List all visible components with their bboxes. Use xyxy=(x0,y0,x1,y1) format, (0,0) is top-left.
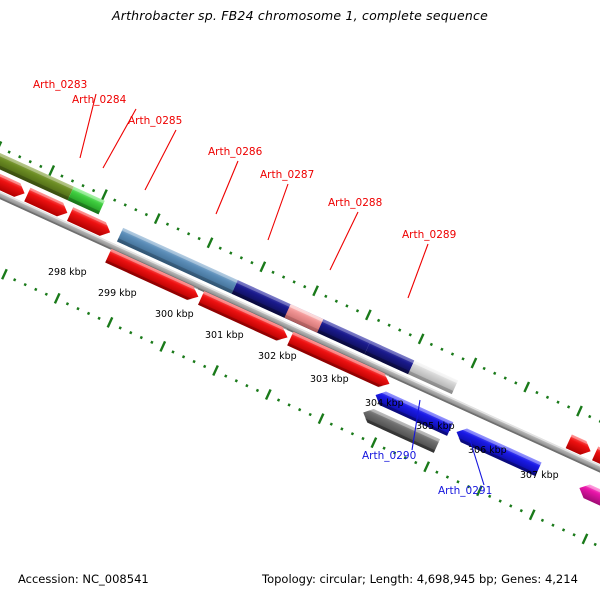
ruler-minor-tick xyxy=(361,437,364,440)
ruler-minor-tick xyxy=(18,155,21,158)
ruler-minor-tick xyxy=(535,391,538,394)
ruler-minor-tick xyxy=(45,293,48,296)
ruler-minor-tick xyxy=(24,283,27,286)
ruler-minor-tick xyxy=(8,150,11,153)
ruler-minor-tick xyxy=(13,278,16,281)
ruler-major-tick xyxy=(423,461,430,472)
ruler-major-tick xyxy=(265,389,272,400)
ruler-major-tick xyxy=(318,413,325,424)
ruler-major-tick xyxy=(576,406,583,417)
ruler-minor-tick xyxy=(219,247,222,250)
ruler-minor-tick xyxy=(409,333,412,336)
ruler-minor-tick xyxy=(456,480,459,483)
ruler-minor-tick xyxy=(271,271,274,274)
ruler-minor-tick xyxy=(377,319,380,322)
ruler-tick-label: 299 kbp xyxy=(98,288,137,299)
ruler-minor-tick xyxy=(551,523,554,526)
ruler-minor-tick xyxy=(60,174,63,177)
ruler-minor-tick xyxy=(198,237,201,240)
ruler-major-tick xyxy=(54,293,61,304)
ruler-minor-tick xyxy=(514,381,517,384)
ruler-minor-tick xyxy=(430,343,433,346)
ruler-minor-tick xyxy=(182,355,185,358)
ruler-ticks-upper xyxy=(0,141,600,445)
ruler-minor-tick xyxy=(345,304,348,307)
gene-label-arth_0284[interactable]: Arth_0284 xyxy=(72,94,136,168)
ruler-major-tick xyxy=(207,237,214,248)
gene-label-text[interactable]: Arth_0286 xyxy=(208,146,263,158)
ruler-minor-tick xyxy=(388,324,391,327)
ruler-minor-tick xyxy=(39,165,42,168)
gene-label-text[interactable]: Arth_0290 xyxy=(362,450,416,462)
gene-label-text[interactable]: Arth_0285 xyxy=(128,115,182,127)
ruler-minor-tick xyxy=(446,475,449,478)
ruler-minor-tick xyxy=(520,509,523,512)
ruler-major-tick xyxy=(523,382,530,393)
ruler-major-tick xyxy=(418,333,425,344)
ruler-minor-tick xyxy=(335,299,338,302)
ruler-minor-tick xyxy=(351,432,354,435)
sequence-stats-text: Topology: circular; Length: 4,698,945 bp… xyxy=(262,572,578,586)
ruler-minor-tick xyxy=(119,326,122,329)
ruler-minor-tick xyxy=(71,179,74,182)
ruler-minor-tick xyxy=(224,374,227,377)
gene-label-text[interactable]: Arth_0289 xyxy=(402,229,456,241)
ruler-minor-tick xyxy=(113,198,116,201)
ruler-tick-label: 305 kbp xyxy=(416,421,455,432)
ruler-minor-tick xyxy=(330,422,333,425)
ruler-minor-tick xyxy=(277,398,280,401)
gene-label-arth_0283[interactable]: Arth_0283 xyxy=(33,79,96,158)
ruler-minor-tick xyxy=(440,348,443,351)
ruler-minor-tick xyxy=(504,376,507,379)
ruler-major-tick xyxy=(371,437,378,448)
ruler-minor-tick xyxy=(556,400,559,403)
ruler-major-tick xyxy=(365,309,372,320)
ruler-major-tick xyxy=(212,365,219,376)
ruler-minor-tick xyxy=(81,184,84,187)
ruler-minor-tick xyxy=(499,499,502,502)
ruler-minor-tick xyxy=(92,189,95,192)
accession-text: Accession: NC_008541 xyxy=(18,572,149,586)
gene-label-text[interactable]: Arth_0283 xyxy=(33,79,87,91)
gene-label-arth_0285[interactable]: Arth_0285 xyxy=(128,115,182,190)
ruler-minor-tick xyxy=(29,160,32,163)
ruler-major-tick xyxy=(471,357,478,368)
ruler-tick-label: 304 kbp xyxy=(365,398,404,409)
gene-label-arth_0289[interactable]: Arth_0289 xyxy=(402,229,456,298)
ruler-minor-tick xyxy=(150,341,153,344)
genome-sequence-viewer: Arthrobacter sp. FB24 chromosome 1, comp… xyxy=(0,0,600,600)
ruler-major-tick xyxy=(0,141,2,152)
ruler-minor-tick xyxy=(588,415,591,418)
ruler-labels: 298 kbp299 kbp300 kbp301 kbp302 kbp303 k… xyxy=(48,267,559,481)
genome-map-canvas[interactable]: 298 kbp299 kbp300 kbp301 kbp302 kbp303 k… xyxy=(0,0,600,600)
ruler-minor-tick xyxy=(245,384,248,387)
ruler-minor-tick xyxy=(309,413,312,416)
ruler-major-tick xyxy=(101,189,108,200)
gene-label-text[interactable]: Arth_0291 xyxy=(438,485,492,497)
ruler-major-tick xyxy=(259,261,266,272)
gene-magenta-edge[interactable] xyxy=(576,481,600,506)
ruler-minor-tick xyxy=(562,528,565,531)
gene-label-text[interactable]: Arth_0288 xyxy=(328,197,382,209)
ruler-minor-tick xyxy=(594,543,597,546)
ruler-minor-tick xyxy=(235,379,238,382)
ruler-minor-tick xyxy=(509,504,512,507)
ruler-major-tick xyxy=(529,509,536,520)
ruler-minor-tick xyxy=(340,427,343,430)
gene-label-arth_0286[interactable]: Arth_0286 xyxy=(208,146,263,214)
ruler-minor-tick xyxy=(567,405,570,408)
ruler-minor-tick xyxy=(129,331,132,334)
gene-label-text[interactable]: Arth_0287 xyxy=(260,169,314,181)
gene-label-leader-line xyxy=(408,244,428,298)
ruler-minor-tick xyxy=(303,285,306,288)
ruler-minor-tick xyxy=(398,328,401,331)
gene-label-leader-line xyxy=(330,212,358,270)
ruler-minor-tick xyxy=(97,317,100,320)
ruler-minor-tick xyxy=(572,533,575,536)
ruler-minor-tick xyxy=(483,367,486,370)
ruler-minor-tick xyxy=(256,389,259,392)
ruler-minor-tick xyxy=(203,365,206,368)
ruler-major-tick xyxy=(582,533,589,544)
ruler-ticks-lower xyxy=(0,245,599,549)
ruler-minor-tick xyxy=(166,223,169,226)
gene-label-leader-line xyxy=(216,161,238,214)
ruler-major-tick xyxy=(154,213,161,224)
ruler-major-tick xyxy=(107,317,114,328)
ruler-tick-label: 302 kbp xyxy=(258,351,297,362)
ruler-minor-tick xyxy=(87,312,90,315)
ruler-tick-label: 298 kbp xyxy=(48,267,87,278)
ruler-minor-tick xyxy=(66,302,69,305)
ruler-minor-tick xyxy=(435,471,438,474)
ruler-major-tick xyxy=(159,341,166,352)
ruler-minor-tick xyxy=(451,352,454,355)
ruler-minor-tick xyxy=(229,251,232,254)
ruler-minor-tick xyxy=(293,280,296,283)
ruler-minor-tick xyxy=(187,232,190,235)
ruler-minor-tick xyxy=(76,307,79,310)
ruler-minor-tick xyxy=(240,256,243,259)
gene-label-leader-line xyxy=(268,184,288,240)
ruler-minor-tick xyxy=(298,408,301,411)
gene-label-leader-line xyxy=(145,130,176,190)
ruler-minor-tick xyxy=(461,357,464,360)
gene-label-text[interactable]: Arth_0284 xyxy=(72,94,127,106)
ruler-minor-tick xyxy=(140,336,143,339)
ruler-major-tick xyxy=(48,165,55,176)
ruler-minor-tick xyxy=(124,203,127,206)
ruler-minor-tick xyxy=(324,295,327,298)
ruler-tick-label: 307 kbp xyxy=(520,470,559,481)
ruler-minor-tick xyxy=(356,309,359,312)
gene-label-arth_0288[interactable]: Arth_0288 xyxy=(328,197,382,270)
ruler-minor-tick xyxy=(282,275,285,278)
ruler-minor-tick xyxy=(541,519,544,522)
ruler-minor-tick xyxy=(134,208,137,211)
ruler-tick-label: 303 kbp xyxy=(310,374,349,385)
ruler-tick-label: 301 kbp xyxy=(205,330,244,341)
ruler-major-tick xyxy=(1,269,8,280)
ruler-minor-tick xyxy=(192,360,195,363)
ruler-minor-tick xyxy=(287,403,290,406)
ruler-minor-tick xyxy=(34,288,37,291)
ruler-minor-tick xyxy=(250,261,253,264)
ruler-tick-label: 300 kbp xyxy=(155,309,194,320)
ruler-minor-tick xyxy=(546,396,549,399)
ruler-minor-tick xyxy=(493,372,496,375)
gene-label-arth_0287[interactable]: Arth_0287 xyxy=(260,169,314,240)
ruler-major-tick xyxy=(312,285,319,296)
ruler-minor-tick xyxy=(145,213,148,216)
ruler-minor-tick xyxy=(171,350,174,353)
ruler-minor-tick xyxy=(176,227,179,230)
